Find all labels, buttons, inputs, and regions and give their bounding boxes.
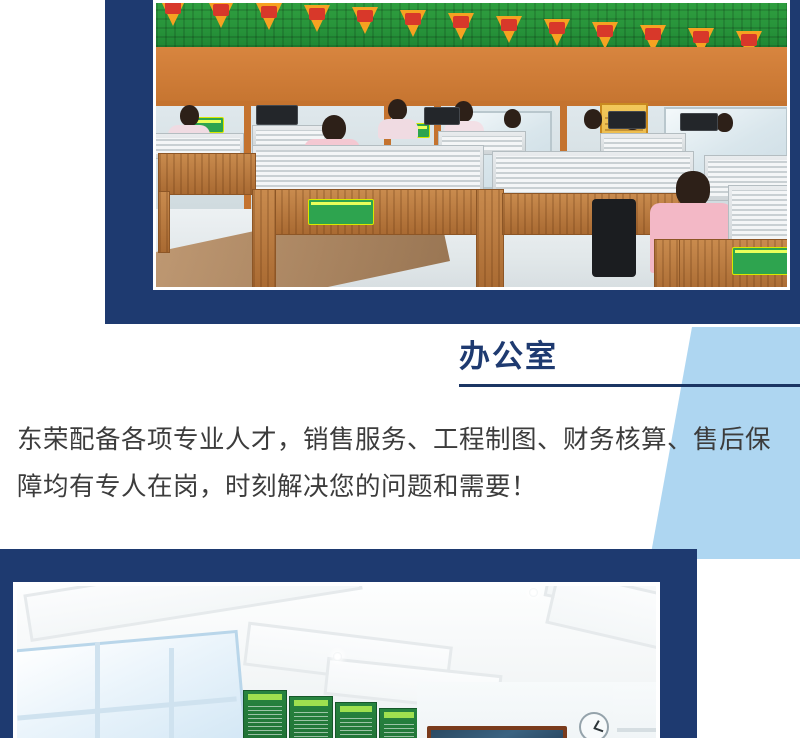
department-sign-foreign-trade <box>732 247 787 275</box>
monitor <box>256 105 298 125</box>
monitor <box>608 111 646 129</box>
notice-board <box>335 702 377 738</box>
window <box>17 630 248 738</box>
monitor <box>680 113 718 131</box>
section-body-text: 东荣配备各项专业人才，销售服务、工程制图、财务核算、售后保障均有专人在岗，时刻解… <box>17 417 787 511</box>
cubicle-panel <box>252 145 484 195</box>
window-mullion <box>169 648 174 738</box>
meeting-room-photo-frame <box>13 582 660 738</box>
person-head <box>584 109 602 129</box>
meeting-room-scene <box>17 586 656 738</box>
desk-leg <box>654 239 680 287</box>
window-mullion <box>95 642 100 738</box>
person-body <box>378 119 418 139</box>
ceiling-bunting <box>156 3 787 47</box>
person-head <box>180 105 199 126</box>
cubicle-panel <box>492 151 694 197</box>
monitor <box>424 107 460 125</box>
office-photo <box>156 3 787 287</box>
title-underline-rule <box>459 384 800 387</box>
person-head <box>504 109 521 128</box>
department-sign-ecommerce <box>308 199 374 225</box>
section-title: 办公室 <box>459 341 558 372</box>
person-head <box>716 113 733 132</box>
notice-board <box>289 696 333 738</box>
office-scene <box>156 3 787 287</box>
notice-board <box>379 708 419 738</box>
wood-header-wall <box>156 47 787 109</box>
ceiling-downlight <box>529 588 538 597</box>
ceiling-downlight <box>333 652 342 661</box>
person-head <box>322 115 346 141</box>
person-head <box>388 99 407 120</box>
projector-screen <box>431 730 563 738</box>
desk-leg <box>252 189 276 287</box>
desk-leg <box>476 189 504 287</box>
office-chair <box>592 199 636 277</box>
wall-rail <box>617 728 656 732</box>
meeting-room-photo <box>17 586 656 738</box>
desk-leg <box>158 191 170 253</box>
office-photo-frame <box>153 0 790 290</box>
notice-board <box>243 690 287 738</box>
promo-page: 办公室 东荣配备各项专业人才，销售服务、工程制图、财务核算、售后保障均有专人在岗… <box>0 0 800 738</box>
work-desk <box>158 153 256 195</box>
work-desk <box>252 189 504 235</box>
projector-whiteboard <box>427 726 567 738</box>
person-head <box>676 171 710 207</box>
wall-clock-icon <box>579 712 609 738</box>
